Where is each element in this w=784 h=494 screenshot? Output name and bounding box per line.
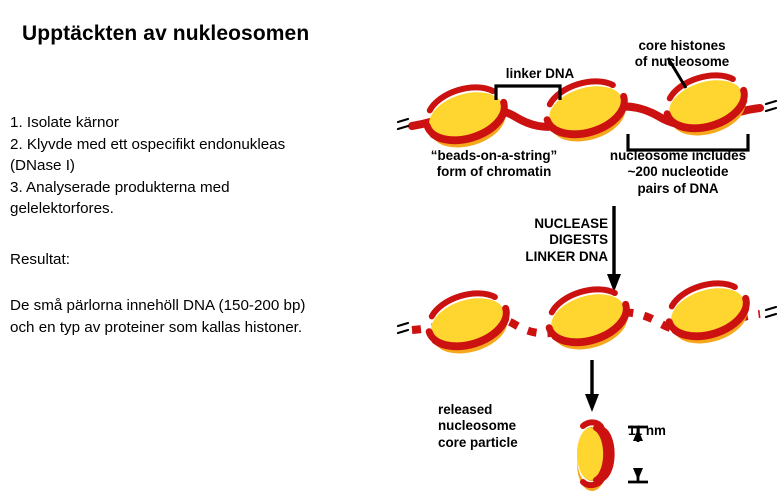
label-beads-on-a-string: “beads-on-a-string” form of chromatin [398,148,590,181]
list-item: 1. Isolate kärnor [10,112,410,134]
label-line: released [438,402,568,418]
digested-chromatin-row [398,276,776,361]
nucleosome-bead [663,68,751,143]
label-line: LINKER DNA [472,249,608,265]
result-line: De små pärlorna innehöll DNA (150-200 bp… [10,295,410,317]
label-linker-dna: linker DNA [480,66,600,82]
strand-end-ticks-right [766,307,776,317]
label-line: pairs of DNA [584,181,772,197]
slide-canvas: Upptäckten av nukleosomen 1. Isolate kär… [0,0,784,494]
label-line: form of chromatin [398,164,590,180]
list-item: 2. Klyvde med ett ospecifikt endonukleas [10,134,410,156]
result-label: Resultat: [10,249,410,271]
label-line: of nucleosome [596,54,768,70]
label-released-nucleosome-core-particle: released nucleosome core particle [438,402,568,451]
strand-end-ticks-left [398,323,408,333]
page-title: Upptäckten av nukleosomen [22,22,309,46]
result-line: och en typ av proteiner som kallas histo… [10,317,410,339]
label-nuclease-digests-linker-dna: NUCLEASE DIGESTS LINKER DNA [472,216,608,265]
bracket-down-icon [496,86,560,100]
label-line: NUCLEASE [472,216,608,232]
nucleosome-bead [545,282,633,357]
label-line: “beads-on-a-string” [398,148,590,164]
nucleosome-bead [423,80,511,155]
label-core-histones: core histones of nucleosome [596,38,768,71]
label-line: core particle [438,435,568,451]
list-item: gelelektorfores. [10,198,410,220]
list-item: 3. Analyserade produkterna med [10,177,410,199]
label-line: ~200 nucleotide [584,164,772,180]
arrow-down-icon-nuclease [607,206,621,292]
label-line: nucleosome [438,418,568,434]
result-paragraph: De små pärlorna innehöll DNA (150-200 bp… [10,295,410,338]
nucleosome-bead [665,276,753,351]
label-dimension-11nm: 11 nm [628,423,690,439]
label-line: nucleosome includes [584,148,772,164]
nucleosome-bead [425,286,513,361]
strand-end-ticks-left [398,119,408,129]
strand-end-ticks-right [766,101,776,111]
result-heading: Resultat: [10,249,410,271]
arrow-down-icon-release [585,360,599,412]
released-nucleosome-core-particle [577,422,612,491]
label-nucleosome-includes: nucleosome includes ~200 nucleotide pair… [584,148,772,197]
label-line: DIGESTS [472,232,608,248]
dimension-arrowhead-down [633,468,643,480]
procedure-steps-list: 1. Isolate kärnor 2. Klyvde med ett ospe… [10,112,410,220]
label-line: core histones [596,38,768,54]
list-item: (DNase I) [10,155,410,177]
nucleosome-diagram: linker DNA core histones of nucleosome “… [396,30,784,494]
